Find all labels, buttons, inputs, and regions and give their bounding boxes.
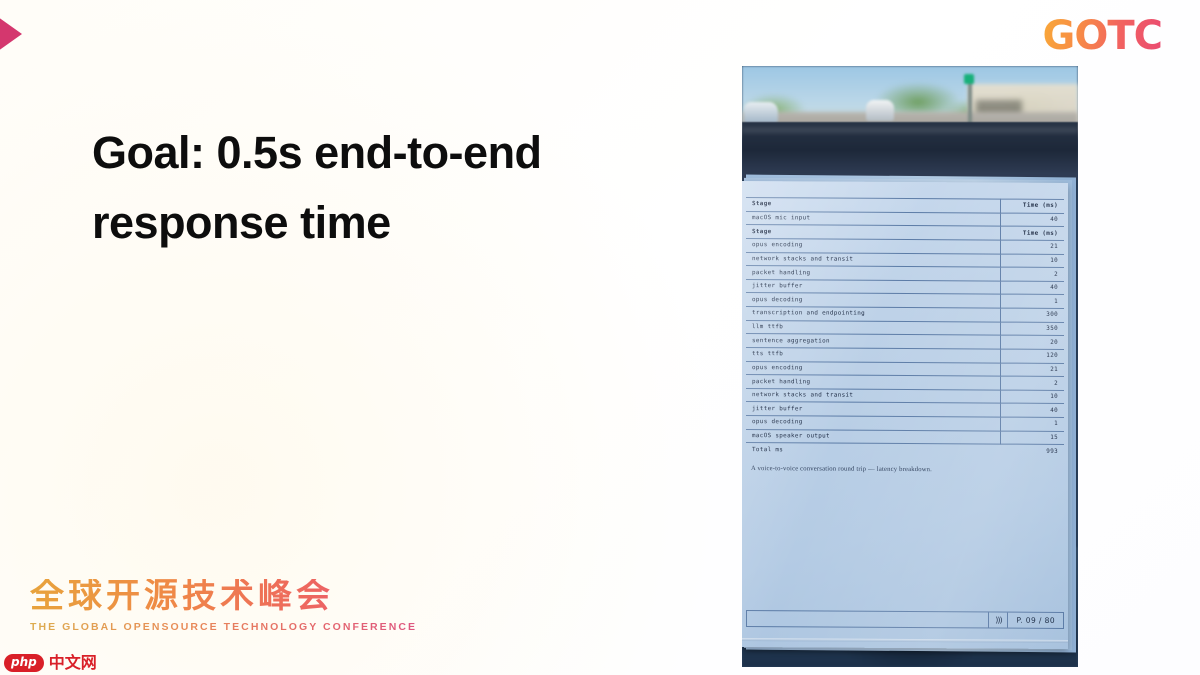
cell-stage: Total ms bbox=[746, 443, 1000, 458]
table-caption: A voice-to-voice conversation round trip… bbox=[746, 465, 1064, 474]
page-title: Goal: 0.5s end-to-end response time bbox=[92, 118, 732, 258]
cell-time-ms: Time (ms) bbox=[1000, 226, 1064, 240]
cell-time-ms: 350 bbox=[1000, 322, 1064, 336]
page-bottom-edge bbox=[742, 638, 1068, 643]
conference-name-en: THE GLOBAL OPENSOURCE TECHNOLOGY CONFERE… bbox=[30, 621, 417, 633]
cell-time-ms: 20 bbox=[1000, 335, 1064, 349]
cell-time-ms: 1 bbox=[1000, 417, 1064, 431]
cell-time-ms: 21 bbox=[1000, 363, 1064, 377]
cell-time-ms: 40 bbox=[1000, 281, 1064, 295]
cell-time-ms: 10 bbox=[1000, 390, 1064, 404]
php-watermark-text: 中文网 bbox=[49, 655, 97, 671]
slide-root: GOTC Goal: 0.5s end-to-end response time… bbox=[0, 0, 1200, 675]
cell-time-ms: 2 bbox=[1000, 267, 1064, 281]
cell-time-ms: 120 bbox=[1000, 349, 1064, 363]
photo-dashboard bbox=[742, 122, 1078, 180]
php-watermark: php 中文网 bbox=[4, 654, 97, 672]
cell-time-ms: 993 bbox=[1000, 444, 1064, 458]
cell-time-ms: 40 bbox=[1000, 213, 1064, 227]
conference-logo: 全球开源技术峰会 THE GLOBAL OPENSOURCE TECHNOLOG… bbox=[30, 579, 417, 633]
cell-time-ms: 21 bbox=[1000, 240, 1064, 254]
cell-time-ms: 15 bbox=[1000, 431, 1064, 445]
php-badge: php bbox=[4, 654, 44, 672]
cell-time-ms: 300 bbox=[1000, 308, 1064, 322]
photo-traffic-pole bbox=[968, 78, 972, 126]
photo-latency-table: StageTime (ms)macOS mic input40StageTime… bbox=[742, 66, 1078, 667]
corner-triangle-decoration bbox=[0, 17, 22, 51]
conference-name-cn: 全球开源技术峰会 bbox=[30, 579, 417, 615]
table-total-row: Total ms993 bbox=[746, 443, 1064, 458]
printed-page: StageTime (ms)macOS mic input40StageTime… bbox=[742, 181, 1068, 649]
cell-time-ms: 10 bbox=[1000, 254, 1064, 268]
photo-car-ahead bbox=[866, 100, 894, 121]
cell-time-ms: 40 bbox=[1000, 403, 1064, 417]
gotc-logo: GOTC bbox=[1043, 16, 1162, 56]
cell-time-ms: 2 bbox=[1000, 376, 1064, 390]
latency-table: StageTime (ms)macOS mic input40StageTime… bbox=[746, 197, 1064, 458]
cell-time-ms: Time (ms) bbox=[1000, 199, 1064, 213]
cell-time-ms: 1 bbox=[1000, 294, 1064, 308]
page-footer: ))) P. 09 / 80 bbox=[746, 610, 1064, 629]
photo-car-left bbox=[744, 102, 778, 124]
latency-table-body: StageTime (ms)macOS mic input40StageTime… bbox=[746, 198, 1064, 458]
wave-icon: ))) bbox=[988, 613, 1008, 628]
page-indicator: P. 09 / 80 bbox=[1008, 613, 1064, 628]
photo-traffic-light bbox=[964, 74, 974, 84]
